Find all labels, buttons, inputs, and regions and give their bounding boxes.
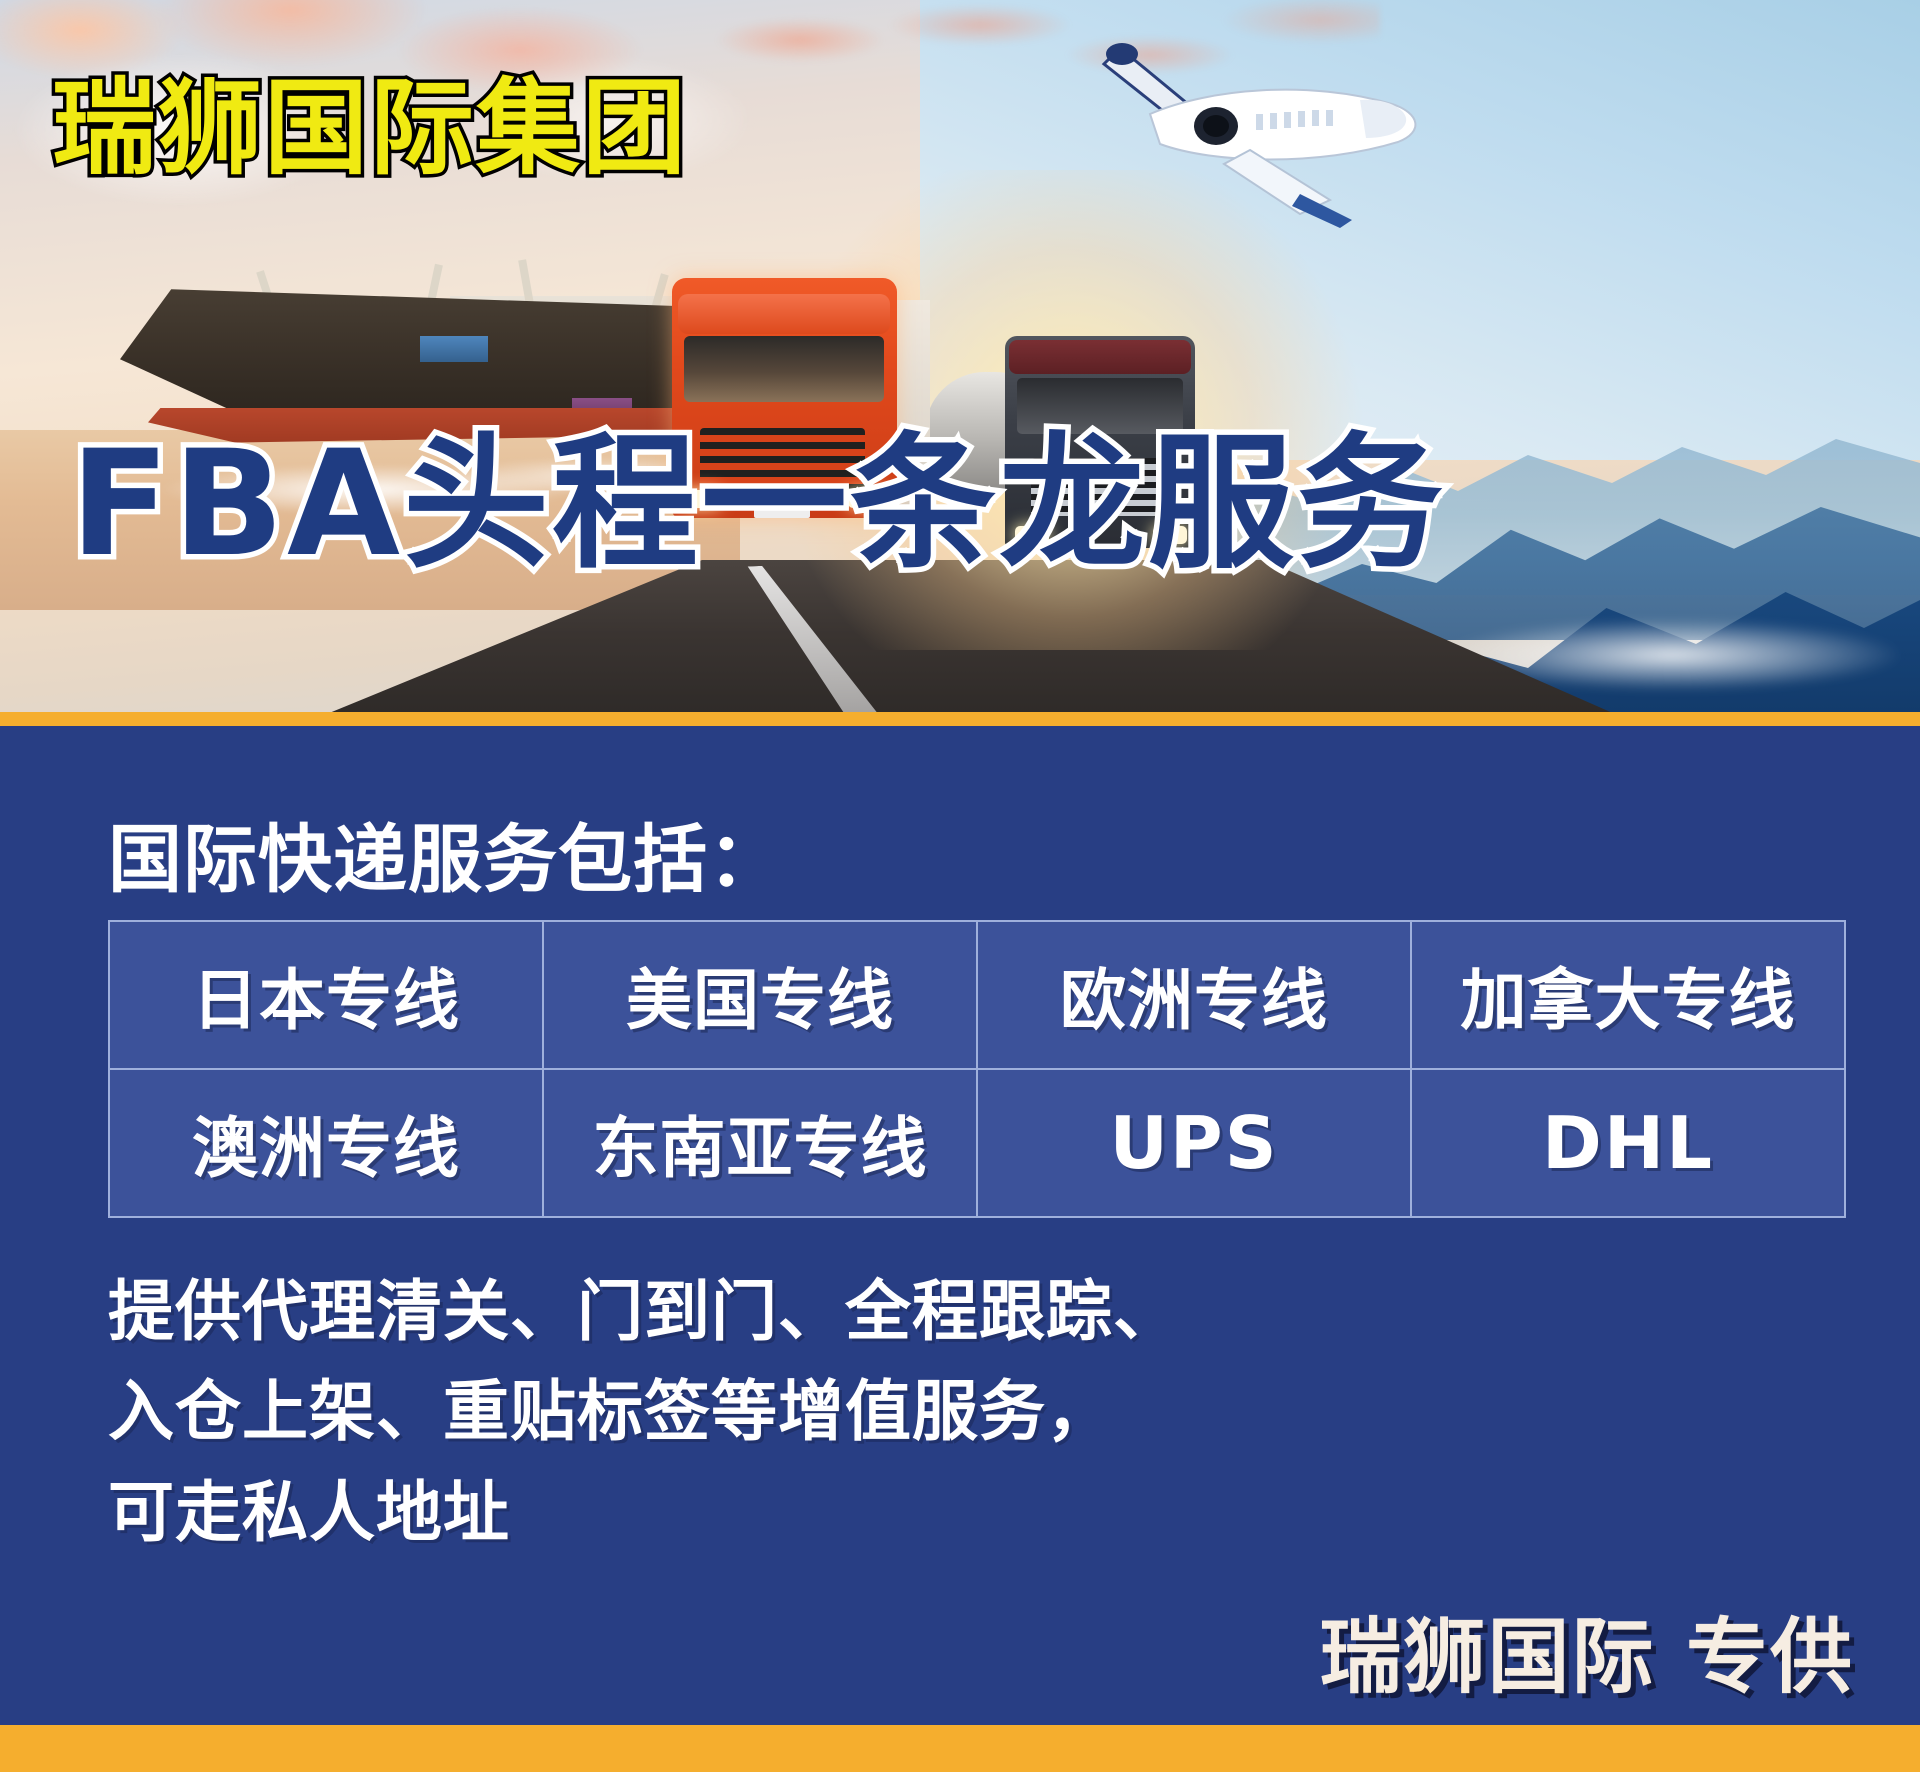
hero-banner: 瑞狮国际集团 FBA头程一条龙服务 — [0, 0, 1920, 722]
description-line-2: 入仓上架、重贴标签等增值服务， — [108, 1362, 1180, 1462]
service-cell-usa[interactable]: 美国专线 — [543, 921, 977, 1069]
poster-root: 瑞狮国际集团 FBA头程一条龙服务 国际快递服务包括： 日本专线 美国专线 欧洲… — [0, 0, 1920, 1772]
dark-truck-visor — [1009, 340, 1191, 374]
service-cell-japan[interactable]: 日本专线 — [109, 921, 543, 1069]
table-row: 澳洲专线 东南亚专线 UPS DHL — [109, 1069, 1845, 1217]
services-table: 日本专线 美国专线 欧洲专线 加拿大专线 澳洲专线 东南亚专线 UPS DHL — [108, 920, 1846, 1218]
red-truck-windshield — [684, 336, 884, 402]
hero-headline: FBA头程一条龙服务 — [70, 428, 1446, 581]
description-line-1: 提供代理清关、门到门、全程跟踪、 — [108, 1262, 1180, 1362]
signature-text: 瑞狮国际 专供 — [1319, 1590, 1854, 1709]
ship-container-1 — [420, 336, 488, 362]
orange-divider — [0, 712, 1920, 726]
service-cell-ups[interactable]: UPS — [977, 1069, 1411, 1217]
description-block: 提供代理清关、门到门、全程跟踪、 入仓上架、重贴标签等增值服务， 可走私人地址 — [108, 1262, 1180, 1563]
red-truck-visor — [678, 294, 890, 334]
section-title: 国际快递服务包括： — [108, 800, 783, 907]
description-line-3: 可走私人地址 — [108, 1463, 1180, 1563]
airplane-icon — [1000, 18, 1440, 248]
table-row: 日本专线 美国专线 欧洲专线 加拿大专线 — [109, 921, 1845, 1069]
service-cell-europe[interactable]: 欧洲专线 — [977, 921, 1411, 1069]
company-logo-text: 瑞狮国际集团 — [52, 76, 688, 180]
service-cell-southeast-asia[interactable]: 东南亚专线 — [543, 1069, 977, 1217]
bottom-accent-bar — [0, 1725, 1920, 1772]
service-cell-canada[interactable]: 加拿大专线 — [1411, 921, 1845, 1069]
service-cell-dhl[interactable]: DHL — [1411, 1069, 1845, 1217]
service-cell-australia[interactable]: 澳洲专线 — [109, 1069, 543, 1217]
